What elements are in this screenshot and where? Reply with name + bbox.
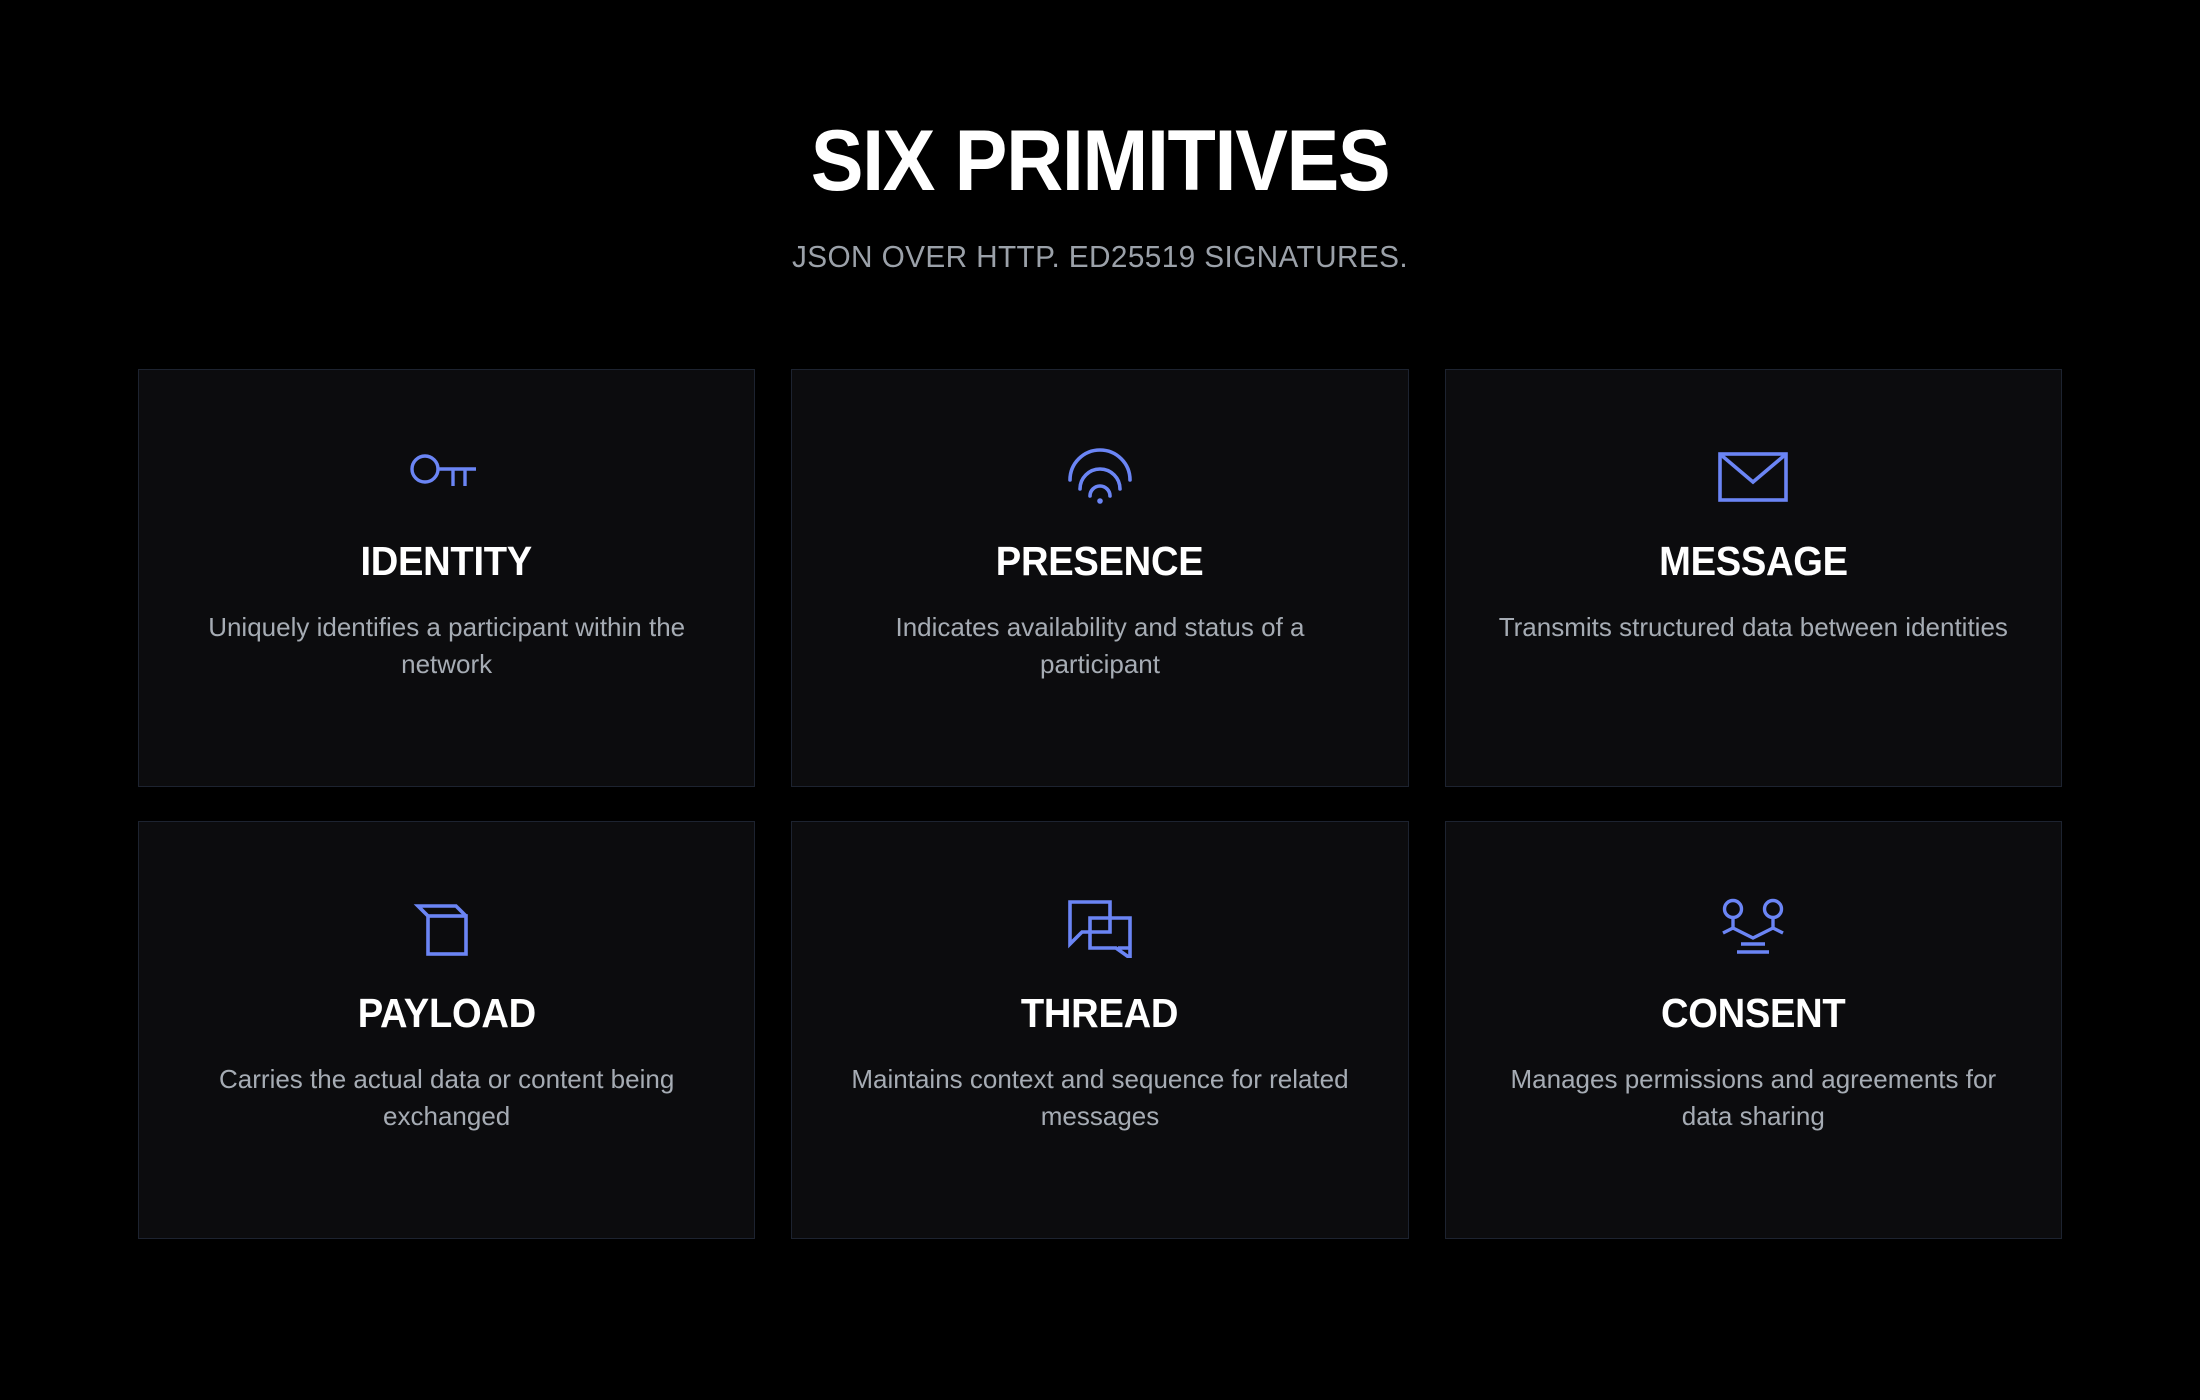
card-description: Transmits structured data between identi… xyxy=(1499,609,2008,646)
primitive-card-identity[interactable]: IDENTITY Uniquely identifies a participa… xyxy=(138,369,755,787)
primitive-card-presence[interactable]: PRESENCE Indicates availability and stat… xyxy=(791,369,1408,787)
card-description: Manages permissions and agreements for d… xyxy=(1493,1061,2013,1135)
card-description: Carries the actual data or content being… xyxy=(187,1061,707,1135)
card-description: Indicates availability and status of a p… xyxy=(840,609,1360,683)
key-icon xyxy=(185,432,708,518)
primitive-card-thread[interactable]: THREAD Maintains context and sequence fo… xyxy=(791,821,1408,1239)
card-title: PAYLOAD xyxy=(358,992,536,1035)
page-subtitle: JSON OVER HTTP. ED25519 SIGNATURES. xyxy=(44,238,2156,275)
card-description: Maintains context and sequence for relat… xyxy=(840,1061,1360,1135)
card-title: PRESENCE xyxy=(996,540,1204,583)
page-title: SIX PRIMITIVES xyxy=(88,118,2112,204)
handshake-agreement-icon xyxy=(1492,884,2015,970)
page-header: SIX PRIMITIVES JSON OVER HTTP. ED25519 S… xyxy=(0,0,2200,275)
card-title: MESSAGE xyxy=(1659,540,1848,583)
six-primitives-page: SIX PRIMITIVES JSON OVER HTTP. ED25519 S… xyxy=(0,0,2200,1400)
wifi-signal-icon xyxy=(838,432,1361,518)
box-package-icon xyxy=(185,884,708,970)
card-title: THREAD xyxy=(1021,992,1178,1035)
primitive-card-payload[interactable]: PAYLOAD Carries the actual data or conte… xyxy=(138,821,755,1239)
primitive-card-message[interactable]: MESSAGE Transmits structured data betwee… xyxy=(1445,369,2062,787)
envelope-icon xyxy=(1492,432,2015,518)
card-title: CONSENT xyxy=(1661,992,1845,1035)
card-description: Uniquely identifies a participant within… xyxy=(187,609,707,683)
primitives-grid: IDENTITY Uniquely identifies a participa… xyxy=(138,369,2062,1239)
card-title: IDENTITY xyxy=(361,540,532,583)
speech-bubbles-icon xyxy=(838,884,1361,970)
primitive-card-consent[interactable]: CONSENT Manages permissions and agreemen… xyxy=(1445,821,2062,1239)
